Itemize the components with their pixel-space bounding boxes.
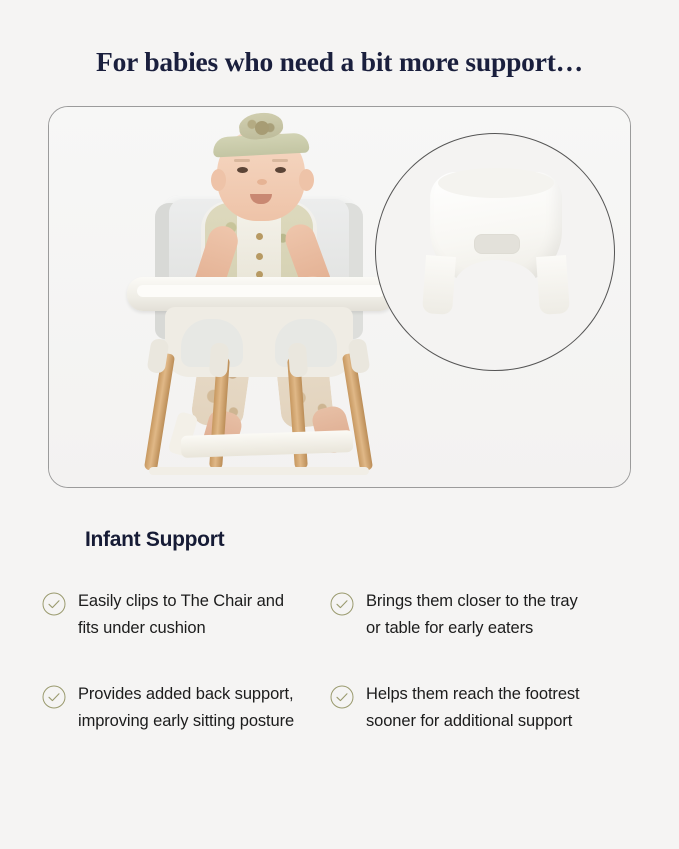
romper-button (256, 233, 263, 240)
chair-leg-cap (288, 342, 308, 377)
chair-footrest (181, 430, 354, 458)
feature-item: Brings them closer to the tray or table … (330, 588, 614, 642)
baby-eye-left (237, 167, 248, 173)
baby-eye-right (275, 167, 286, 173)
support-slot-cutout (474, 234, 520, 254)
chair-cross-bar (149, 467, 369, 475)
baby-nose (257, 179, 267, 185)
product-closeup-circle (375, 133, 615, 371)
check-circle-icon (42, 685, 66, 709)
check-circle-icon (330, 592, 354, 616)
feature-text: Brings them closer to the tray or table … (366, 588, 586, 642)
baby-headband-knot (255, 121, 269, 135)
romper-button (256, 253, 263, 260)
feature-item: Easily clips to The Chair and fits under… (42, 588, 326, 642)
baby-brow-right (272, 159, 288, 162)
chair-leg-cap (209, 342, 229, 377)
high-chair-illustration (109, 107, 409, 488)
hero-stage (49, 107, 630, 487)
feature-text: Provides added back support, improving e… (78, 681, 298, 735)
feature-text: Helps them reach the footrest sooner for… (366, 681, 586, 735)
baby-brow-left (234, 159, 250, 162)
check-circle-icon (330, 685, 354, 709)
promo-page: For babies who need a bit more support… (0, 0, 679, 849)
baby-ear-left (211, 169, 226, 191)
page-title: For babies who need a bit more support… (0, 46, 679, 78)
baby-ear-right (299, 169, 314, 191)
check-circle-icon (42, 592, 66, 616)
feature-list: Easily clips to The Chair and fits under… (42, 588, 638, 735)
feature-item: Provides added back support, improving e… (42, 681, 326, 735)
support-leg-left (422, 255, 456, 315)
support-leg-right (536, 255, 570, 315)
feature-item: Helps them reach the footrest sooner for… (330, 681, 614, 735)
chair-tray-lip (137, 285, 385, 297)
support-top-curve (438, 168, 554, 198)
section-title: Infant Support (85, 528, 224, 552)
hero-image-card (48, 106, 631, 488)
support-arch-cutout (454, 260, 538, 314)
infant-support-product (416, 172, 576, 324)
feature-text: Easily clips to The Chair and fits under… (78, 588, 298, 642)
